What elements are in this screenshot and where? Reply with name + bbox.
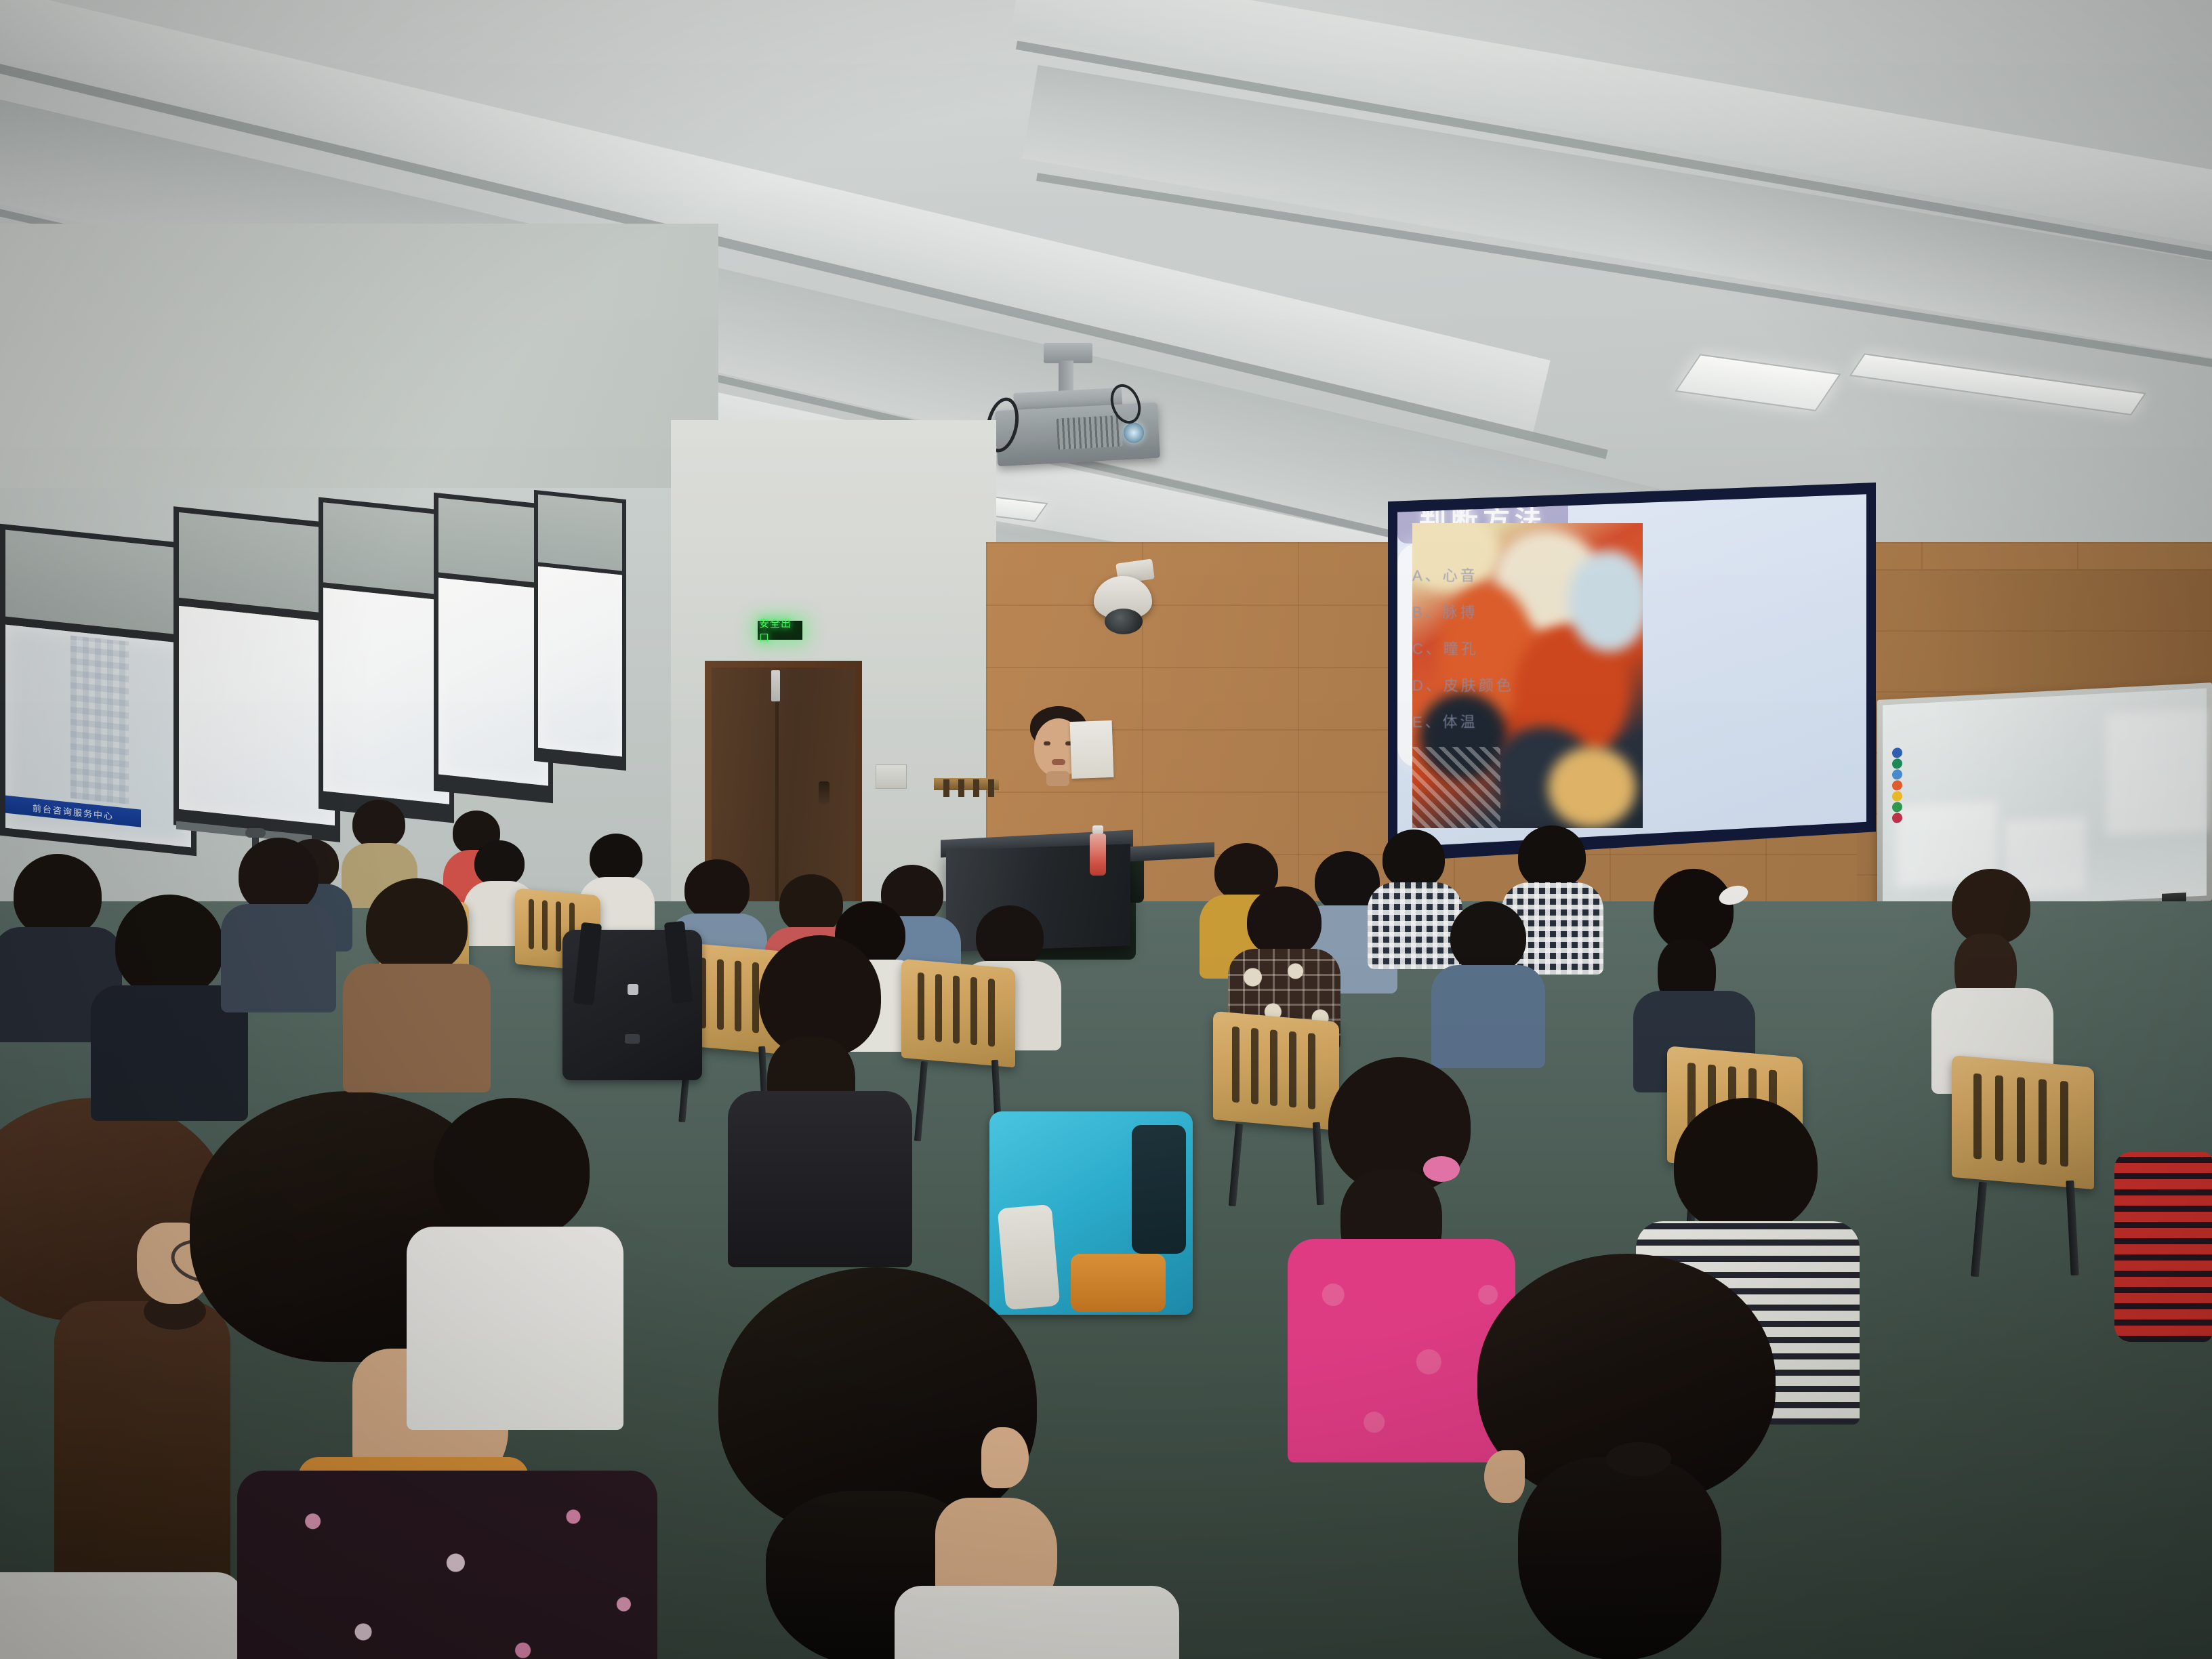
person-hair	[1450, 901, 1526, 973]
audience-person	[684, 859, 783, 946]
window-transom-5	[538, 494, 622, 571]
audience-person	[1322, 1057, 1549, 1281]
whiteboard-magnet[interactable]	[1892, 769, 1902, 780]
window-glass-1: 前台咨询服务中心	[5, 625, 191, 848]
wall-hook-4	[988, 779, 994, 797]
window-glass-3	[323, 588, 449, 804]
person-hair	[1518, 825, 1586, 889]
door-handle[interactable]	[819, 781, 829, 804]
audience-person	[434, 1098, 651, 1301]
window-banner-text: 前台咨询服务中心	[33, 800, 114, 822]
exit-sign-text: 安全出口	[759, 616, 801, 644]
audience-person	[1654, 869, 1776, 970]
person-hair	[684, 859, 750, 920]
chair-back	[1213, 1011, 1339, 1130]
projector-grille	[1057, 415, 1123, 450]
person-top	[1368, 882, 1462, 969]
person-hair	[779, 874, 843, 934]
backpack-pocket	[998, 1204, 1061, 1310]
chair[interactable]	[1952, 1061, 2094, 1183]
person-top	[237, 1471, 657, 1659]
backpack-accent	[1071, 1254, 1166, 1312]
window-frame-5	[534, 490, 626, 771]
person-top	[343, 964, 491, 1092]
ptz-camera-lens	[1105, 609, 1143, 634]
person-top	[0, 1572, 244, 1659]
backpack[interactable]	[562, 930, 702, 1080]
person-hair	[115, 895, 224, 998]
chair-back	[1952, 1055, 2094, 1189]
lecture-hall-photo: 前台咨询服务中心 安全出口	[0, 0, 2212, 1659]
whiteboard-magnet[interactable]	[1892, 747, 1902, 758]
window-glass-4	[438, 577, 548, 785]
person-top	[895, 1586, 1179, 1659]
whiteboard-magnet[interactable]	[1892, 791, 1902, 802]
audience-person-foreground	[718, 1267, 1003, 1389]
audience-person	[1450, 901, 1564, 1004]
person-hair	[1247, 886, 1322, 957]
door-closer	[771, 670, 780, 701]
red-striped-garment	[2114, 1152, 2212, 1342]
window-transom-2	[179, 512, 335, 614]
projection-screen-frame: 判断方法 A、心音 B、脉搏 C、瞳孔 D、皮肤颜色 E、体温	[1388, 483, 1876, 862]
audience-person	[759, 935, 943, 1111]
wall-hook-3	[973, 779, 979, 797]
person-ear	[981, 1427, 1029, 1488]
window-mesh-1	[70, 636, 129, 804]
podium-note	[1070, 720, 1114, 779]
backpack-strap	[1132, 1125, 1186, 1254]
light-switch-plate[interactable]	[876, 764, 907, 789]
person-top	[728, 1091, 912, 1267]
window-transom-4	[438, 497, 548, 583]
hair-tie	[1606, 1442, 1671, 1476]
person-hair	[366, 878, 468, 975]
wall-hook-2	[958, 779, 964, 797]
person-top	[407, 1227, 623, 1430]
person-top	[1431, 965, 1545, 1068]
person-hair	[1674, 1098, 1818, 1233]
audience-person	[1247, 886, 1359, 988]
person-top	[221, 904, 336, 1012]
window-glass-5	[538, 566, 622, 756]
audience-person	[590, 834, 665, 900]
slide-photo-texture	[1412, 747, 1500, 828]
person-ponytail	[1518, 1457, 1721, 1659]
person-hair	[590, 834, 642, 882]
window-transom-3	[323, 502, 449, 596]
person-ear	[1484, 1450, 1525, 1503]
exit-sign: 安全出口	[758, 621, 802, 640]
chair[interactable]	[1213, 1017, 1339, 1125]
projector-lens	[1123, 422, 1145, 444]
person-hair	[434, 1098, 590, 1240]
slide-item: A、心音	[1412, 564, 1553, 586]
presenter-neck	[1046, 771, 1069, 786]
window-handle-knob[interactable]	[245, 828, 266, 838]
slide-item: D、皮肤颜色	[1412, 674, 1553, 695]
audience-person	[366, 878, 514, 1007]
window-transom-1	[5, 530, 191, 636]
hair-scrunchie	[1423, 1156, 1460, 1182]
whiteboard-magnet[interactable]	[1892, 780, 1902, 791]
whiteboard-magnet[interactable]	[1892, 758, 1902, 769]
backpack-cyan[interactable]	[989, 1111, 1193, 1315]
window-frame-2	[173, 506, 340, 842]
person-hair	[14, 854, 102, 938]
slide-item: B、脉搏	[1412, 600, 1553, 622]
projection-screen: 判断方法 A、心音 B、脉搏 C、瞳孔 D、皮肤颜色 E、体温	[1397, 492, 1866, 853]
water-bottle	[1090, 834, 1106, 876]
audience-person	[1952, 869, 2074, 975]
wall-hook-1	[943, 779, 949, 797]
window-frame-1: 前台咨询服务中心	[0, 524, 197, 856]
audience-person	[239, 838, 354, 946]
window-glass-2	[179, 606, 335, 825]
person-hair	[1382, 829, 1445, 889]
person-hair	[239, 838, 319, 914]
slide-item: C、瞳孔	[1412, 637, 1553, 659]
slide-item: E、体温	[1412, 710, 1553, 732]
person-hair	[976, 905, 1044, 969]
